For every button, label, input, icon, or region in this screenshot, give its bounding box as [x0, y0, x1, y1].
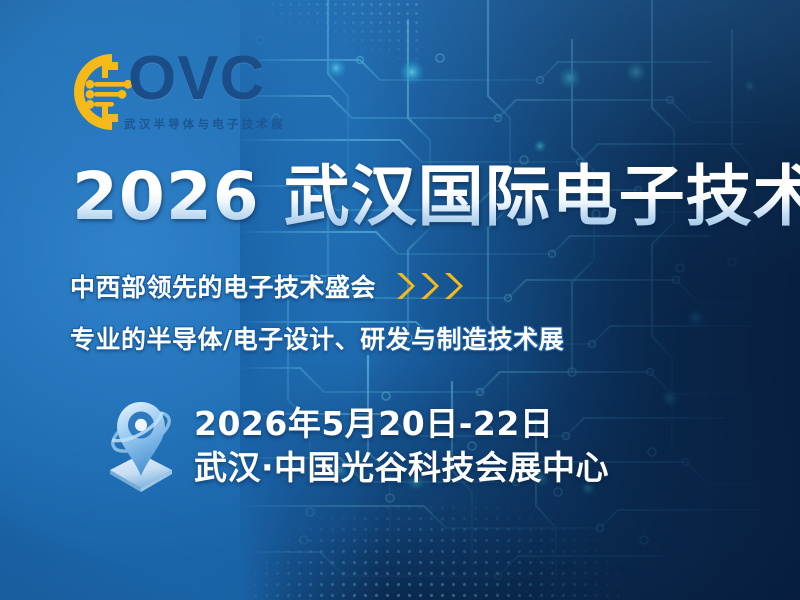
event-info-text: 2026年5月20日-22日 武汉·中国光谷科技会展中心 — [194, 392, 609, 489]
tagline-row-1: 中西部领先的电子技术盛会 — [70, 268, 464, 304]
chevron-right-icon — [394, 271, 416, 301]
chevron-right-icon — [442, 271, 464, 301]
tagline-row-2: 专业的半导体/电子设计、研发与制造技术展 — [70, 320, 564, 356]
chevron-right-icon — [418, 271, 440, 301]
logo-subtitle: 武汉半导体与电子技术展 — [124, 116, 286, 132]
event-date: 2026年5月20日-22日 — [194, 402, 609, 446]
ovc-logo: OVC 武汉半导体与电子技术展 — [72, 50, 332, 140]
event-info: 2026年5月20日-22日 武汉·中国光谷科技会展中心 — [104, 392, 609, 494]
tagline-2-text: 专业的半导体/电子设计、研发与制造技术展 — [70, 320, 564, 356]
location-pin-icon — [104, 396, 178, 494]
event-poster: OVC 武汉半导体与电子技术展 2026 武汉国际电子技术博览会 中西部领先的电… — [0, 0, 800, 600]
event-venue: 武汉·中国光谷科技会展中心 — [194, 446, 609, 490]
chevron-right-icon-group — [394, 271, 464, 301]
page-title: 2026 武汉国际电子技术博览会 — [72, 162, 800, 231]
tagline-1-text: 中西部领先的电子技术盛会 — [70, 268, 376, 304]
logo-wordmark: OVC — [128, 48, 265, 110]
